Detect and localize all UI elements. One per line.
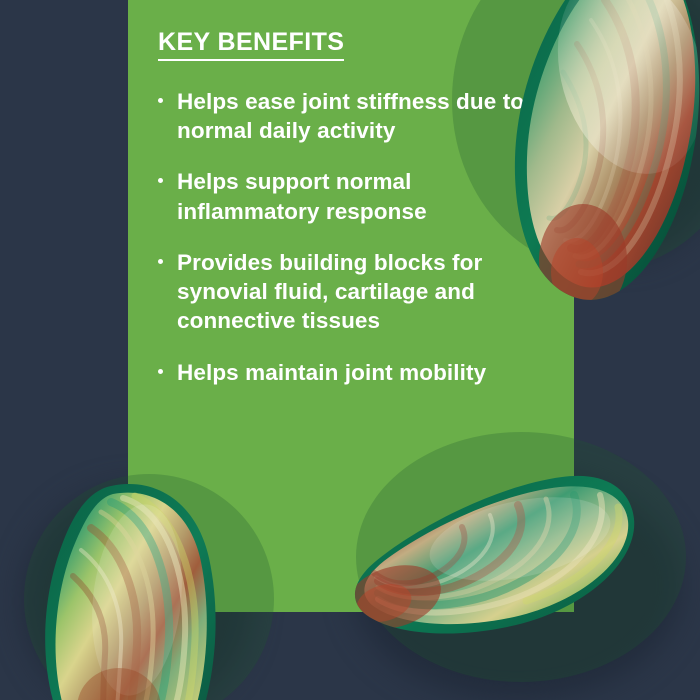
- mussel-shell-bottom-center-image: [350, 447, 640, 647]
- benefit-item-4: Helps maintain joint mobility: [158, 358, 558, 387]
- benefit-text-1: Helps ease joint stiffness due to normal…: [177, 89, 524, 143]
- benefit-item-1: Helps ease joint stiffness due to normal…: [158, 87, 558, 146]
- key-benefits-poster: KEY BENEFITS Helps ease joint stiffness …: [0, 0, 700, 700]
- benefit-item-2: Helps support normal inflammatory respon…: [158, 167, 558, 226]
- benefit-text-2: Helps support normal inflammatory respon…: [177, 169, 427, 223]
- bullet-dot-icon: [158, 98, 163, 103]
- bullet-dot-icon: [158, 369, 163, 374]
- benefits-list: Helps ease joint stiffness due to normal…: [158, 87, 558, 387]
- benefit-text-4: Helps maintain joint mobility: [177, 360, 486, 385]
- benefit-item-3: Provides building blocks for synovial fl…: [158, 248, 558, 336]
- bullet-dot-icon: [158, 178, 163, 183]
- mussel-shell-top-right-image: [505, 0, 700, 362]
- bullet-dot-icon: [158, 259, 163, 264]
- mussel-shell-bottom-left-image: [45, 480, 245, 700]
- benefits-content: KEY BENEFITS Helps ease joint stiffness …: [158, 28, 558, 387]
- benefit-text-3: Provides building blocks for synovial fl…: [177, 250, 482, 334]
- page-title: KEY BENEFITS: [158, 28, 344, 61]
